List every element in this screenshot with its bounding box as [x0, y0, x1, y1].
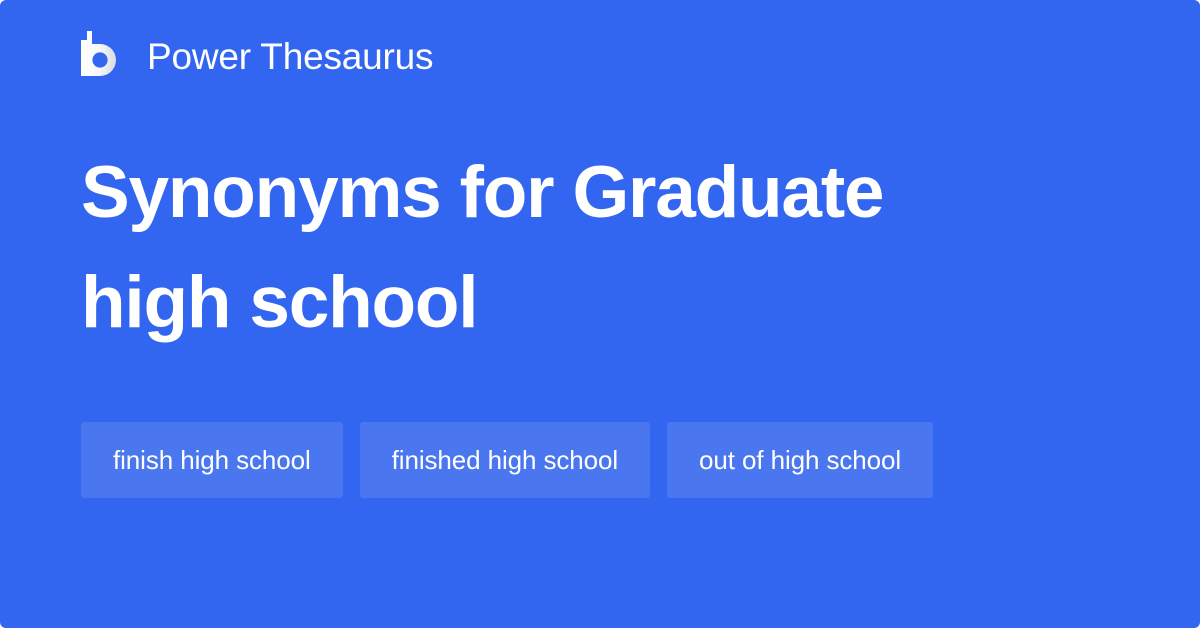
- page-title: Synonyms for Graduate high school: [81, 138, 1121, 358]
- brand-name: power thesaurus: [147, 38, 433, 75]
- synonym-chip[interactable]: finish high school: [81, 422, 343, 498]
- synonym-chip-list: finish high school finished high school …: [81, 422, 1121, 498]
- share-card: power thesaurus Synonyms for Graduate hi…: [0, 0, 1200, 628]
- power-thesaurus-b-logo-icon: [81, 31, 125, 81]
- page-title-line-2: high school: [81, 262, 477, 343]
- page-title-line-1: Synonyms for Graduate: [81, 152, 883, 233]
- synonym-chip[interactable]: finished high school: [360, 422, 650, 498]
- brand-header[interactable]: power thesaurus: [81, 28, 433, 84]
- synonym-chip[interactable]: out of high school: [667, 422, 933, 498]
